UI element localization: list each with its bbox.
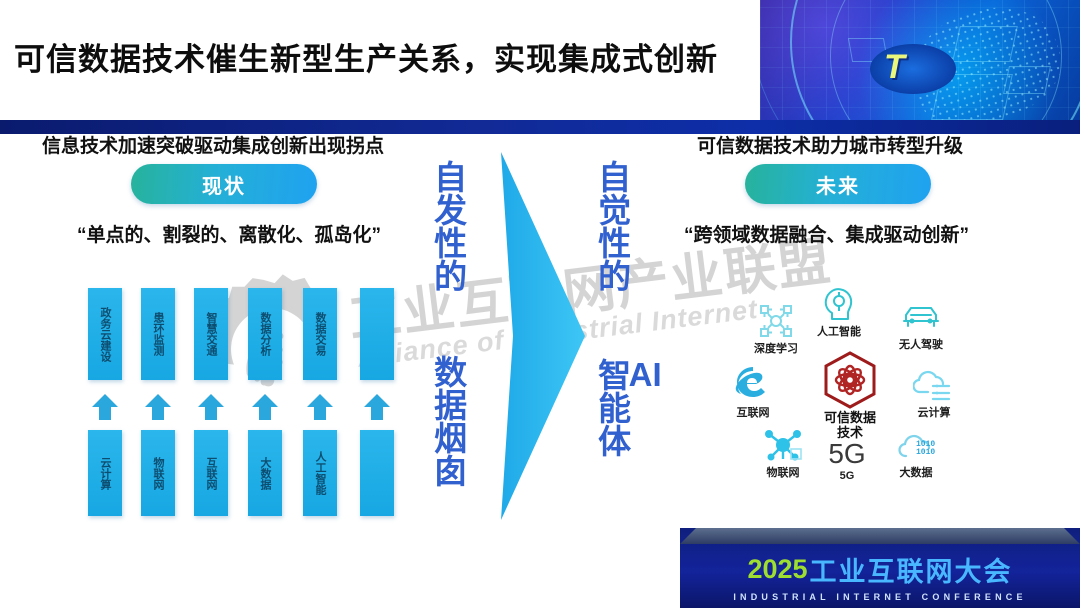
icon-label-cloud-computing: 云计算 [891,407,977,420]
bar-bottom-1: 云计算 [88,430,122,516]
conference-banner-top-edge [680,528,1080,544]
right-vertical-ai-text: AI [629,358,662,393]
right-status-badge: 未来 [745,164,931,204]
trusted-data-hex-atom-icon [800,352,900,408]
icon-item-autonomous-driving: 无人驾驶 [878,296,964,352]
bar-bottom-5: 人工智能 [303,430,337,516]
icon-label-internet: 互联网 [710,407,796,420]
conference-name-en: INDUSTRIAL INTERNET CONFERENCE [680,592,1080,602]
bar-top-3: 智慧交通 [194,288,228,380]
fiveg-large-text: 5G [812,440,882,468]
icon-item-cloud-computing: 云计算 [891,364,977,420]
conference-logo: 2025工业互联网大会 INDUSTRIAL INTERNET CONFEREN… [680,550,1080,602]
icon-item-5g: 5G 5G [812,440,882,483]
internet-explorer-e-icon [710,364,796,406]
core-label-line1: 可信数据 [824,410,876,425]
icon-label-trusted-data-tech: 可信数据 技术 [800,411,900,441]
center-chevron-arrow-icon [493,152,588,520]
left-vertical-label-bottom: 数据烟囱 [430,355,465,487]
icon-item-artificial-intelligence: 人工智能 [796,283,882,339]
core-label-line2: 技术 [837,425,863,440]
ai-head-icon [796,283,882,325]
bar-bottom-2: 物联网 [141,430,175,516]
car-icon [878,296,964,338]
icon-item-internet: 互联网 [710,364,796,420]
right-vertical-label-top: 自觉性的 [594,160,629,292]
banner-panel-1 [952,26,1018,62]
up-arrow-icon-6 [362,392,392,422]
bar-top-2: 患环监测 [141,288,175,380]
up-arrow-icon-4 [250,392,280,422]
left-status-badge: 现状 [131,164,317,204]
right-vertical-label-bottom: AI智能体 [594,358,662,457]
cloud-server-icon [891,364,977,406]
left-quote-text: “单点的、割裂的、离散化、孤岛化” [77,220,381,247]
right-quote-text: “跨领域数据融合、集成驱动创新” [684,220,969,247]
bar-top-5: 数据交易 [303,288,337,380]
bar-top-6 [360,288,394,380]
bar-bottom-6 [360,430,394,516]
bar-top-4: 数据分析 [248,288,282,380]
icon-label-artificial-intelligence: 人工智能 [796,326,882,339]
right-vertical-body-text: 智能体 [594,358,631,457]
right-section-heading: 可信数据技术助力城市转型升级 [697,131,963,158]
up-arrow-icon-5 [305,392,335,422]
page-title: 可信数据技术催生新型生产关系，实现集成式创新 [14,34,718,79]
left-section-heading: 信息技术加速突破驱动集成创新出现拐点 [42,131,384,158]
bar-bottom-3: 互联网 [194,430,228,516]
icon-label-autonomous-driving: 无人驾驶 [878,339,964,352]
bar-bottom-4: 大数据 [248,430,282,516]
icon-label-5g: 5G [812,470,882,483]
banner-logo-disc [870,44,956,94]
up-arrow-icon-3 [196,392,226,422]
conference-year: 2025 [747,554,807,584]
svg-text:1010: 1010 [916,448,935,457]
icon-label-big-data: 大数据 [873,467,959,480]
bar-top-1: 政务云建设 [88,288,122,380]
slide-canvas: T 可信数据技术催生新型生产关系，实现集成式创新 信息技术加速突破驱动集成创新出… [0,0,1080,608]
tech-banner-image: T [760,0,1080,128]
banner-t-logo-icon: T [884,48,902,87]
icon-item-trusted-data-tech: 可信数据 技术 [800,352,900,441]
up-arrow-icon-2 [143,392,173,422]
conference-footer-banner: 2025工业互联网大会 INDUSTRIAL INTERNET CONFEREN… [680,528,1080,608]
conference-name-cn: 工业互联网大会 [810,557,1013,587]
up-arrow-icon-1 [90,392,120,422]
left-vertical-label-top: 自发性的 [430,160,465,292]
